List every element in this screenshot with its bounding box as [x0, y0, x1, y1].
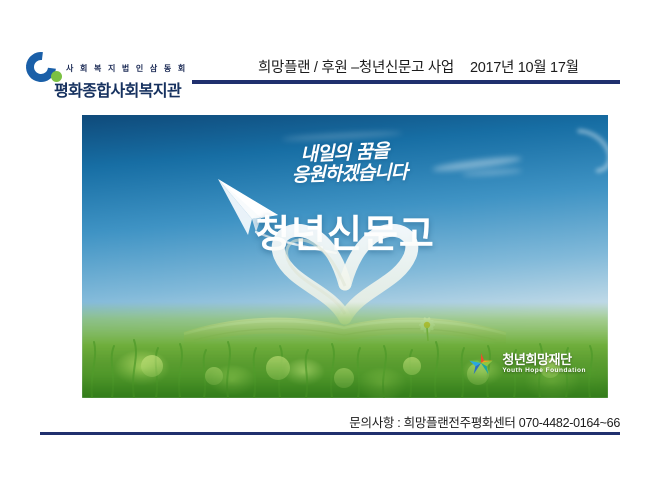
organization-logo: 사 회 복 지 법 인 삼 동 회 평화종합사회복지관 — [26, 52, 196, 100]
header-divider — [192, 80, 620, 84]
poster-image: 내일의 꿈을 응원하겠습니다 청년신문고 — [82, 115, 608, 398]
star-icon — [467, 351, 495, 377]
poster-script-headline: 내일의 꿈을 응원하겠습니다 — [82, 132, 608, 197]
sponsor-logo: 청년희망재단 Youth Hope Foundation — [467, 350, 586, 378]
sponsor-text: 청년희망재단 Youth Hope Foundation — [502, 353, 586, 375]
footer-contact: 문의사항 : 희망플랜전주평화센터 070-4482-0164~66 — [349, 412, 620, 431]
footer-divider — [40, 432, 620, 435]
header-date-text: 2017년 10월 17월 — [470, 60, 579, 76]
page-header: 사 회 복 지 법 인 삼 동 회 평화종합사회복지관 희망플랜 / 후원 –청… — [0, 0, 650, 100]
sponsor-name-english: Youth Hope Foundation — [502, 368, 586, 375]
sponsor-name-korean: 청년희망재단 — [502, 353, 586, 366]
header-title-text: 희망플랜 / 후원 –청년신문고 사업 — [258, 60, 454, 76]
logo-title: 평화종합사회복지관 — [54, 77, 181, 101]
logo-subtitle: 사 회 복 지 법 인 삼 동 회 — [66, 63, 187, 74]
page-title: 희망플랜 / 후원 –청년신문고 사업2017년 10월 17월 — [258, 56, 579, 77]
